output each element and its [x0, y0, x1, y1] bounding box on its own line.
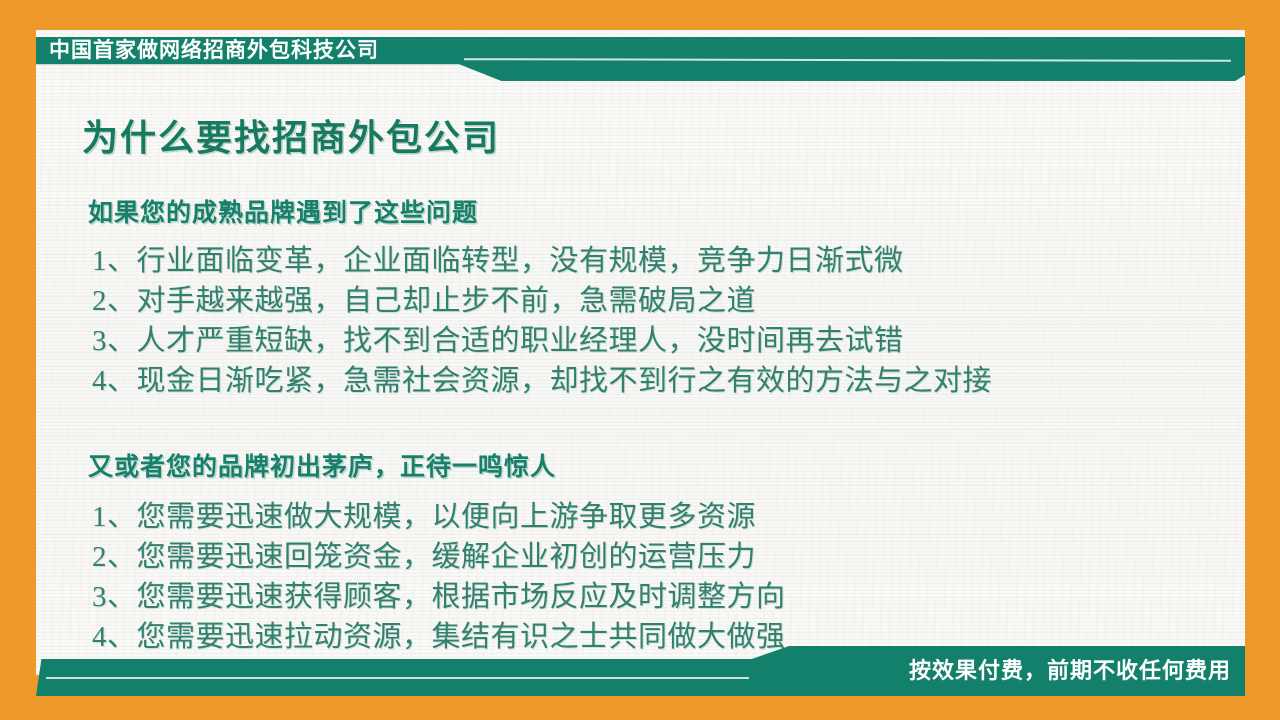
bullet-list-1: 1、行业面临变革，企业面临转型，没有规模，竞争力日渐式微 2、对手越来越强，自己… [88, 229, 1245, 401]
bottom-ribbon: 按效果付费，前期不收任何费用 [36, 646, 1245, 696]
section-heading-1: 如果您的成熟品牌遇到了这些问题 [88, 161, 1245, 229]
list-item: 2、您需要迅速回笼资金，缓解企业初创的运营压力 [92, 537, 1245, 577]
section-new-brand: 又或者您的品牌初出茅庐，正待一鸣惊人 1、您需要迅速做大规模，以便向上游争取更多… [36, 401, 1245, 657]
section-heading-2: 又或者您的品牌初出茅庐，正待一鸣惊人 [88, 401, 1245, 483]
bottom-ribbon-hairline [46, 677, 750, 679]
top-ribbon: 中国首家做网络招商外包科技公司 [36, 37, 1245, 81]
list-item: 3、人才严重短缺，找不到合适的职业经理人，没时间再去试错 [92, 321, 1245, 361]
bullet-list-2: 1、您需要迅速做大规模，以便向上游争取更多资源 2、您需要迅速回笼资金，缓解企业… [88, 483, 1245, 657]
bottom-ribbon-label: 按效果付费，前期不收任何费用 [909, 651, 1231, 689]
list-item: 4、现金日渐吃紧，急需社会资源，却找不到行之有效的方法与之对接 [92, 361, 1245, 401]
top-ribbon-label: 中国首家做网络招商外包科技公司 [49, 37, 379, 64]
section-mature-brand: 如果您的成熟品牌遇到了这些问题 1、行业面临变革，企业面临转型，没有规模，竞争力… [36, 161, 1245, 401]
list-item: 3、您需要迅速获得顾客，根据市场反应及时调整方向 [92, 577, 1245, 617]
list-item: 1、您需要迅速做大规模，以便向上游争取更多资源 [92, 497, 1245, 537]
slide-content: 为什么要找招商外包公司 如果您的成熟品牌遇到了这些问题 1、行业面临变革，企业面… [36, 95, 1245, 657]
list-item: 2、对手越来越强，自己却止步不前，急需破局之道 [92, 281, 1245, 321]
list-item: 1、行业面临变革，企业面临转型，没有规模，竞争力日渐式微 [92, 241, 1245, 281]
slide-canvas: 中国首家做网络招商外包科技公司 为什么要找招商外包公司 如果您的成熟品牌遇到了这… [0, 0, 1280, 720]
page-title: 为什么要找招商外包公司 [36, 95, 1245, 161]
